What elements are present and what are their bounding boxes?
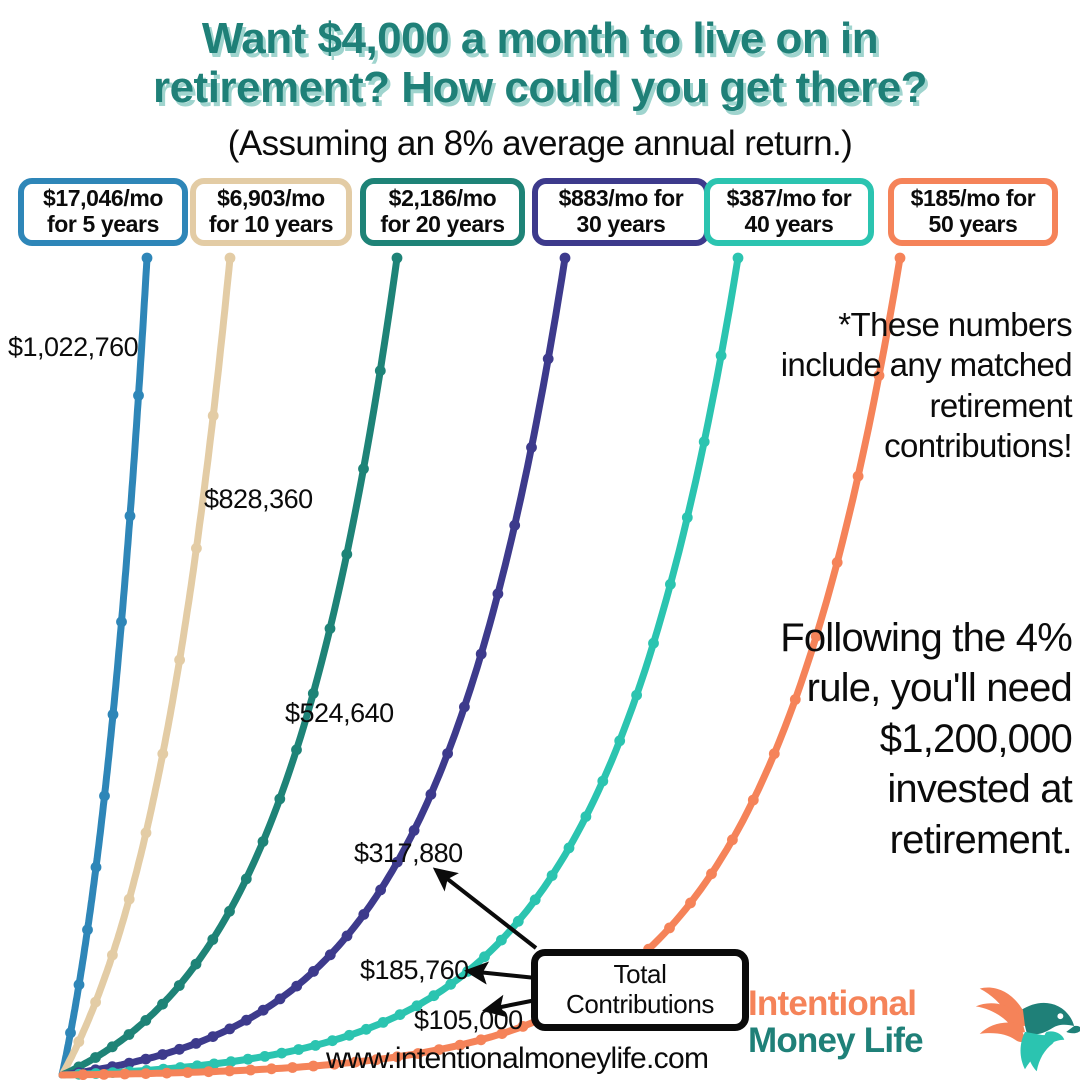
data-point — [699, 436, 710, 447]
data-point — [140, 1068, 151, 1079]
data-point — [174, 655, 185, 666]
data-point — [496, 935, 507, 946]
hummingbird-icon — [964, 980, 1080, 1076]
data-point — [225, 253, 236, 264]
data-point — [308, 966, 319, 977]
data-point — [124, 1029, 135, 1040]
data-point — [428, 990, 439, 1001]
data-point — [395, 1009, 406, 1020]
brand-logo[interactable]: Intentional Money Life — [748, 984, 1078, 1076]
value-label-317880: $317,880 — [354, 838, 463, 869]
data-point — [191, 543, 202, 554]
data-point — [243, 1054, 254, 1065]
data-point — [274, 794, 285, 805]
data-point — [493, 588, 504, 599]
data-point — [291, 981, 302, 992]
data-point — [207, 934, 218, 945]
data-point — [125, 511, 136, 522]
data-point — [597, 776, 608, 787]
data-point — [140, 1054, 151, 1065]
data-point — [276, 1048, 287, 1059]
data-point — [90, 1052, 101, 1063]
data-point — [203, 1066, 214, 1077]
data-point — [476, 649, 487, 660]
data-point — [664, 923, 675, 934]
data-point — [161, 1068, 172, 1079]
data-point — [513, 916, 524, 927]
data-point — [107, 950, 118, 961]
data-point — [82, 924, 93, 935]
data-point — [733, 253, 744, 264]
matched-contributions-note: *These numbers include any matched retir… — [772, 305, 1072, 466]
data-point — [191, 1038, 202, 1049]
data-point — [706, 868, 717, 879]
data-point — [459, 702, 470, 713]
callout-line-1: Total — [614, 960, 667, 990]
data-point — [174, 980, 185, 991]
infographic-canvas: Want $4,000 a month to live on in retire… — [0, 0, 1080, 1080]
data-point — [344, 1030, 355, 1041]
data-point — [727, 834, 738, 845]
data-point — [648, 638, 659, 649]
data-point — [208, 1031, 219, 1042]
data-point — [308, 1061, 319, 1072]
four-percent-rule-note: Following the 4% rule, you'll need $1,20… — [772, 613, 1072, 865]
data-point — [442, 748, 453, 759]
data-point — [157, 999, 168, 1010]
data-point — [682, 512, 693, 523]
value-label-828360: $828,360 — [204, 484, 313, 515]
data-point — [224, 1066, 235, 1077]
data-point — [157, 1049, 168, 1060]
data-point — [526, 442, 537, 453]
logo-line-1: Intentional — [748, 986, 986, 1023]
data-point — [509, 520, 520, 531]
value-label-105000: $105,000 — [414, 1005, 523, 1036]
data-point — [358, 463, 369, 474]
data-point — [73, 1036, 84, 1047]
data-point — [547, 870, 558, 881]
data-point — [124, 894, 135, 905]
data-point — [342, 931, 353, 942]
data-point — [375, 885, 386, 896]
data-point — [157, 748, 168, 759]
data-point — [142, 253, 153, 264]
data-point — [116, 616, 127, 627]
logo-line-2: Money Life — [748, 1023, 986, 1060]
data-point — [853, 471, 864, 482]
data-point — [191, 959, 202, 970]
data-point — [530, 894, 541, 905]
data-point — [665, 579, 676, 590]
value-label-1022760: $1,022,760 — [8, 332, 138, 363]
data-point — [631, 690, 642, 701]
data-point — [310, 1040, 321, 1051]
growth-curves-chart — [0, 0, 1080, 1080]
arrow-to-185760 — [468, 971, 536, 978]
data-point — [241, 874, 252, 885]
data-point — [245, 1065, 256, 1076]
arrow-to-317880 — [436, 870, 536, 948]
data-point — [258, 1005, 269, 1016]
website-url[interactable]: www.intentionalmoneylife.com — [326, 1042, 708, 1076]
callout-line-2: Contributions — [566, 990, 714, 1020]
data-point — [293, 1044, 304, 1055]
data-point — [479, 951, 490, 962]
data-point — [392, 253, 403, 264]
data-point — [895, 253, 906, 264]
data-point — [208, 410, 219, 421]
data-point — [266, 1063, 277, 1074]
data-point — [748, 795, 759, 806]
data-point — [107, 1041, 118, 1052]
data-point — [241, 1015, 252, 1026]
data-point — [543, 353, 554, 364]
data-point — [74, 979, 85, 990]
data-point — [581, 811, 592, 822]
data-point — [716, 350, 727, 361]
data-point — [174, 1044, 185, 1055]
data-point — [361, 1024, 372, 1035]
data-point — [358, 909, 369, 920]
data-point — [182, 1067, 193, 1078]
data-point — [90, 997, 101, 1008]
data-point — [140, 1015, 151, 1026]
logo-wordmark: Intentional Money Life — [748, 986, 986, 1060]
data-point — [99, 791, 110, 802]
data-point — [133, 390, 144, 401]
data-point — [564, 843, 575, 854]
data-point — [275, 994, 286, 1005]
data-point — [224, 1024, 235, 1035]
data-point — [375, 365, 386, 376]
data-point — [409, 825, 420, 836]
total-contributions-callout: Total Contributions — [531, 949, 749, 1031]
data-point — [78, 1069, 89, 1080]
data-point — [141, 827, 152, 838]
data-point — [108, 709, 119, 720]
data-point — [685, 898, 696, 909]
data-point — [287, 1062, 298, 1073]
curve-5-years — [62, 258, 147, 1075]
value-label-524640: $524,640 — [285, 698, 394, 729]
data-point — [226, 1056, 237, 1067]
data-point — [378, 1017, 389, 1028]
data-point — [614, 735, 625, 746]
data-point — [560, 253, 571, 264]
data-point — [325, 623, 336, 634]
data-point — [341, 549, 352, 560]
data-point — [832, 557, 843, 568]
data-point — [259, 1051, 270, 1062]
data-point — [91, 862, 102, 873]
data-point — [65, 1027, 76, 1038]
data-point — [258, 836, 269, 847]
data-point — [325, 949, 336, 960]
data-point — [99, 1069, 110, 1080]
data-point — [224, 906, 235, 917]
value-label-185760: $185,760 — [360, 955, 469, 986]
data-point — [426, 789, 437, 800]
data-point — [119, 1069, 130, 1080]
data-point — [291, 744, 302, 755]
